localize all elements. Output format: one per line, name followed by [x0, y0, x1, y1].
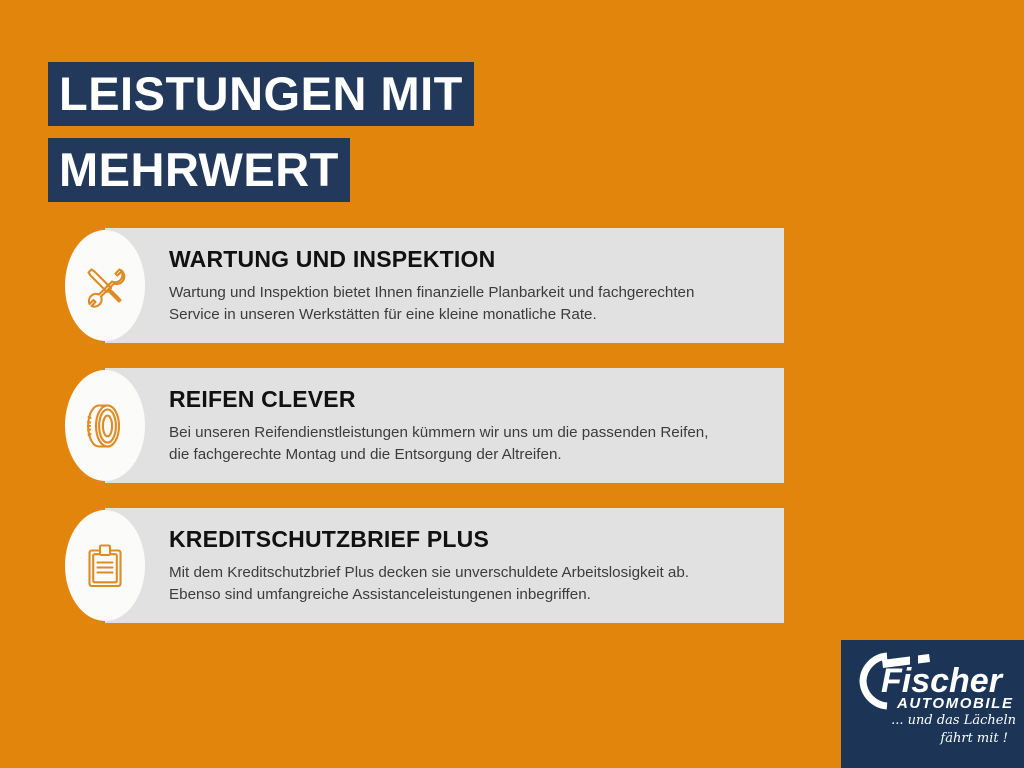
card-description: Bei unseren Reifendienstleistungen kümme… [169, 422, 769, 465]
brand-logo[interactable]: Fischer AUTOMOBILE ... und das Lächeln f… [841, 640, 1024, 768]
card-icon-badge [65, 230, 145, 341]
card-content: WARTUNG UND INSPEKTION Wartung und Inspe… [169, 248, 770, 325]
service-card-kreditschutzbrief-plus[interactable]: KREDITSCHUTZBRIEF PLUS Mit dem Kreditsch… [105, 508, 784, 623]
card-description: Mit dem Kreditschutzbrief Plus decken si… [169, 562, 769, 605]
fischer-automobile-logo-mark: Fischer AUTOMOBILE [851, 650, 1017, 712]
logo-artwork: Fischer AUTOMOBILE [851, 650, 1017, 712]
service-card-reifen-clever[interactable]: REIFEN CLEVER Bei unseren Reifendienstle… [105, 368, 784, 483]
card-description-line: Service in unseren Werkstätten für eine … [169, 304, 769, 326]
card-title: KREDITSCHUTZBRIEF PLUS [169, 528, 770, 551]
card-icon-badge [65, 510, 145, 621]
page-title: LEISTUNGEN MIT MEHRWERT [48, 62, 474, 202]
clipboard-icon [79, 540, 131, 592]
tools-icon [79, 260, 131, 312]
logo-tagline-line-1: ... und das Lächeln [841, 712, 1016, 730]
logo-tagline-line-2: fährt mit ! [841, 730, 1016, 748]
poster-canvas: LEISTUNGEN MIT MEHRWERT WARTUNG UND INSP… [0, 0, 1024, 768]
page-title-line-1: LEISTUNGEN MIT [48, 62, 474, 126]
tire-icon [79, 400, 131, 452]
card-title: REIFEN CLEVER [169, 388, 770, 411]
card-icon-badge [65, 370, 145, 481]
service-card-wartung-und-inspektion[interactable]: WARTUNG UND INSPEKTION Wartung und Inspe… [105, 228, 784, 343]
card-description-line: Wartung und Inspektion bietet Ihnen fina… [169, 282, 769, 304]
page-title-line-2: MEHRWERT [48, 138, 350, 202]
card-content: REIFEN CLEVER Bei unseren Reifendienstle… [169, 388, 770, 465]
card-description-line: die fachgerechte Montag und die Entsorgu… [169, 444, 769, 466]
card-description-line: Ebenso sind umfangreiche Assistanceleist… [169, 584, 769, 606]
card-title: WARTUNG UND INSPEKTION [169, 248, 770, 271]
card-content: KREDITSCHUTZBRIEF PLUS Mit dem Kreditsch… [169, 528, 770, 605]
card-description-line: Mit dem Kreditschutzbrief Plus decken si… [169, 562, 769, 584]
card-description-line: Bei unseren Reifendienstleistungen kümme… [169, 422, 769, 444]
logo-subbrand-text: AUTOMOBILE [896, 695, 1014, 712]
card-description: Wartung und Inspektion bietet Ihnen fina… [169, 282, 769, 325]
logo-tagline: ... und das Lächeln fährt mit ! [841, 712, 1016, 747]
